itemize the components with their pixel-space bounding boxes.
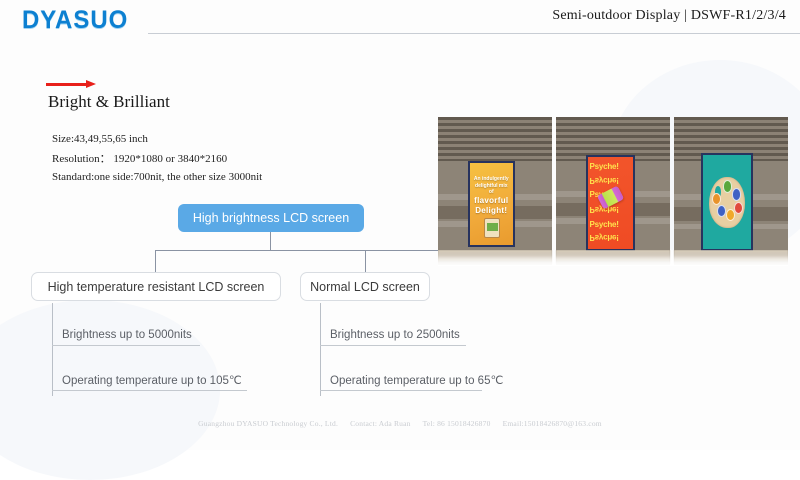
orange-display-photo: Psyche! Psyche! Psyche! Psyche! Psyche! … <box>556 117 670 265</box>
flowchart-root-node: High brightness LCD screen <box>178 204 364 232</box>
gallery-fade-overlay <box>438 250 788 266</box>
leaf-spine-left <box>52 303 53 396</box>
leaf-underline <box>52 390 247 391</box>
screen-yellow: An indulgently delightful mix of flavorf… <box>468 161 515 246</box>
flowchart-branch-high-temp: High temperature resistant LCD screen <box>31 272 281 301</box>
connector-root-down <box>270 232 271 250</box>
footer-tel: Tel: 86 15018426870 <box>423 419 491 428</box>
footer-company: Guangzhou DYASUO Technology Co., Ltd. <box>198 419 338 428</box>
product-photo-gallery: An indulgently delightful mix of flavorf… <box>438 117 788 265</box>
leaf-left-brightness: Brightness up to 5000nits <box>62 329 192 344</box>
connector-left-down <box>155 250 156 272</box>
screen-caption-5: Psyche! <box>589 220 631 229</box>
footer-contact: Contact: Ada Ruan <box>350 419 410 428</box>
screen-caption-2: Psyche! <box>589 176 631 185</box>
jar-graphic <box>484 218 500 238</box>
yellow-display-photo: An indulgently delightful mix of flavorf… <box>438 117 552 265</box>
leaf-underline <box>320 345 466 346</box>
screen-caption-6: Psyche! <box>589 233 631 242</box>
paint-palette-icon <box>709 177 745 228</box>
screen-caption-small: An indulgently delightful mix of <box>472 176 510 195</box>
teal-display-photo <box>674 117 788 265</box>
screen-caption-1: Psyche! <box>589 162 631 171</box>
leaf-spine-right <box>320 303 321 396</box>
footer-email: Email:15018426870@163.com <box>503 419 602 428</box>
leaf-underline <box>320 390 482 391</box>
screen-caption-big: flavorful Delight! <box>472 196 510 216</box>
connector-right-down <box>365 250 366 272</box>
screen-teal <box>701 153 753 252</box>
screen-caption-4: Psyche! <box>589 205 631 214</box>
leaf-right-brightness: Brightness up to 2500nits <box>330 329 460 344</box>
slide-root: DYASUO Semi-outdoor Display | DSWF-R1/2/… <box>0 0 800 450</box>
leaf-right-temperature: Operating temperature up to 65℃ <box>330 373 503 390</box>
flowchart-branch-normal: Normal LCD screen <box>300 272 430 301</box>
flowchart: High brightness LCD screen High temperat… <box>0 0 460 450</box>
slide-footer: Guangzhou DYASUO Technology Co., Ltd. Co… <box>0 419 800 428</box>
screen-orange: Psyche! Psyche! Psyche! Psyche! Psyche! … <box>586 155 636 251</box>
leaf-underline <box>52 345 200 346</box>
header-title: Semi-outdoor Display | DSWF-R1/2/3/4 <box>552 8 786 24</box>
leaf-left-temperature: Operating temperature up to 105℃ <box>62 373 242 390</box>
